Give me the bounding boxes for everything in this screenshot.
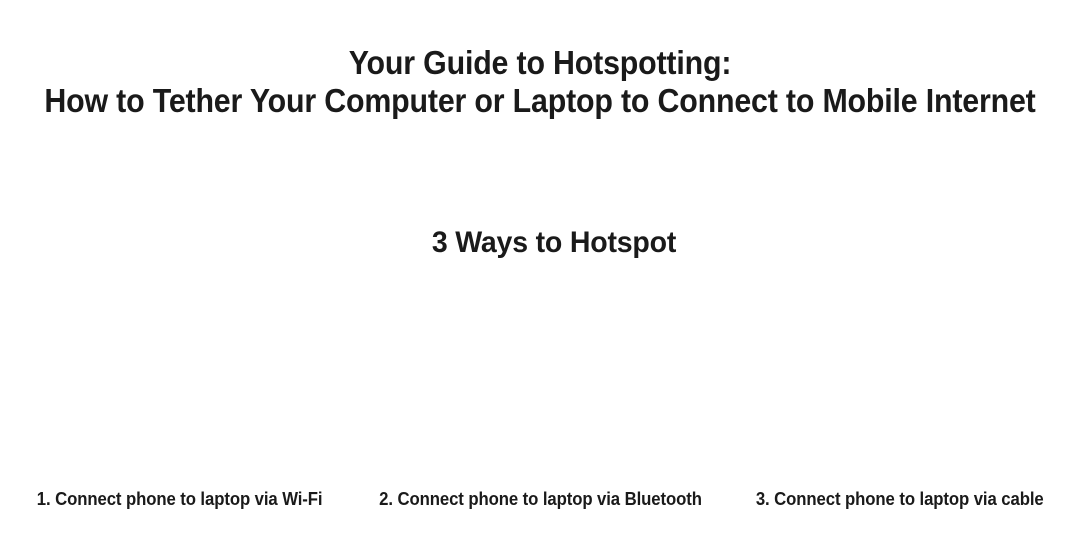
- illustration-slot-cable: [720, 282, 1080, 474]
- section-heading: 3 Ways to Hotspot: [54, 224, 1053, 262]
- method-caption-bluetooth: 2. Connect phone to laptop via Bluetooth: [360, 487, 720, 511]
- illustration-slot-bluetooth: [360, 282, 720, 474]
- page-title-line-1: Your Guide to Hotspotting:: [43, 44, 1037, 82]
- method-caption-label: 2. Connect phone to laptop via Bluetooth: [379, 487, 702, 511]
- illustration-slot-wifi: [0, 282, 360, 474]
- method-caption-wifi: 1. Connect phone to laptop via Wi-Fi: [0, 487, 360, 511]
- method-caption-row: 1. Connect phone to laptop via Wi-Fi 2. …: [0, 487, 1080, 511]
- method-caption-label: 1. Connect phone to laptop via Wi-Fi: [37, 487, 323, 511]
- method-caption-cable: 3. Connect phone to laptop via cable: [720, 487, 1080, 511]
- page-title: Your Guide to Hotspotting: How to Tether…: [0, 44, 1080, 120]
- infographic-page: Your Guide to Hotspotting: How to Tether…: [0, 0, 1080, 552]
- method-caption-label: 3. Connect phone to laptop via cable: [756, 487, 1044, 511]
- illustration-row: [0, 282, 1080, 474]
- page-title-line-2: How to Tether Your Computer or Laptop to…: [43, 82, 1037, 120]
